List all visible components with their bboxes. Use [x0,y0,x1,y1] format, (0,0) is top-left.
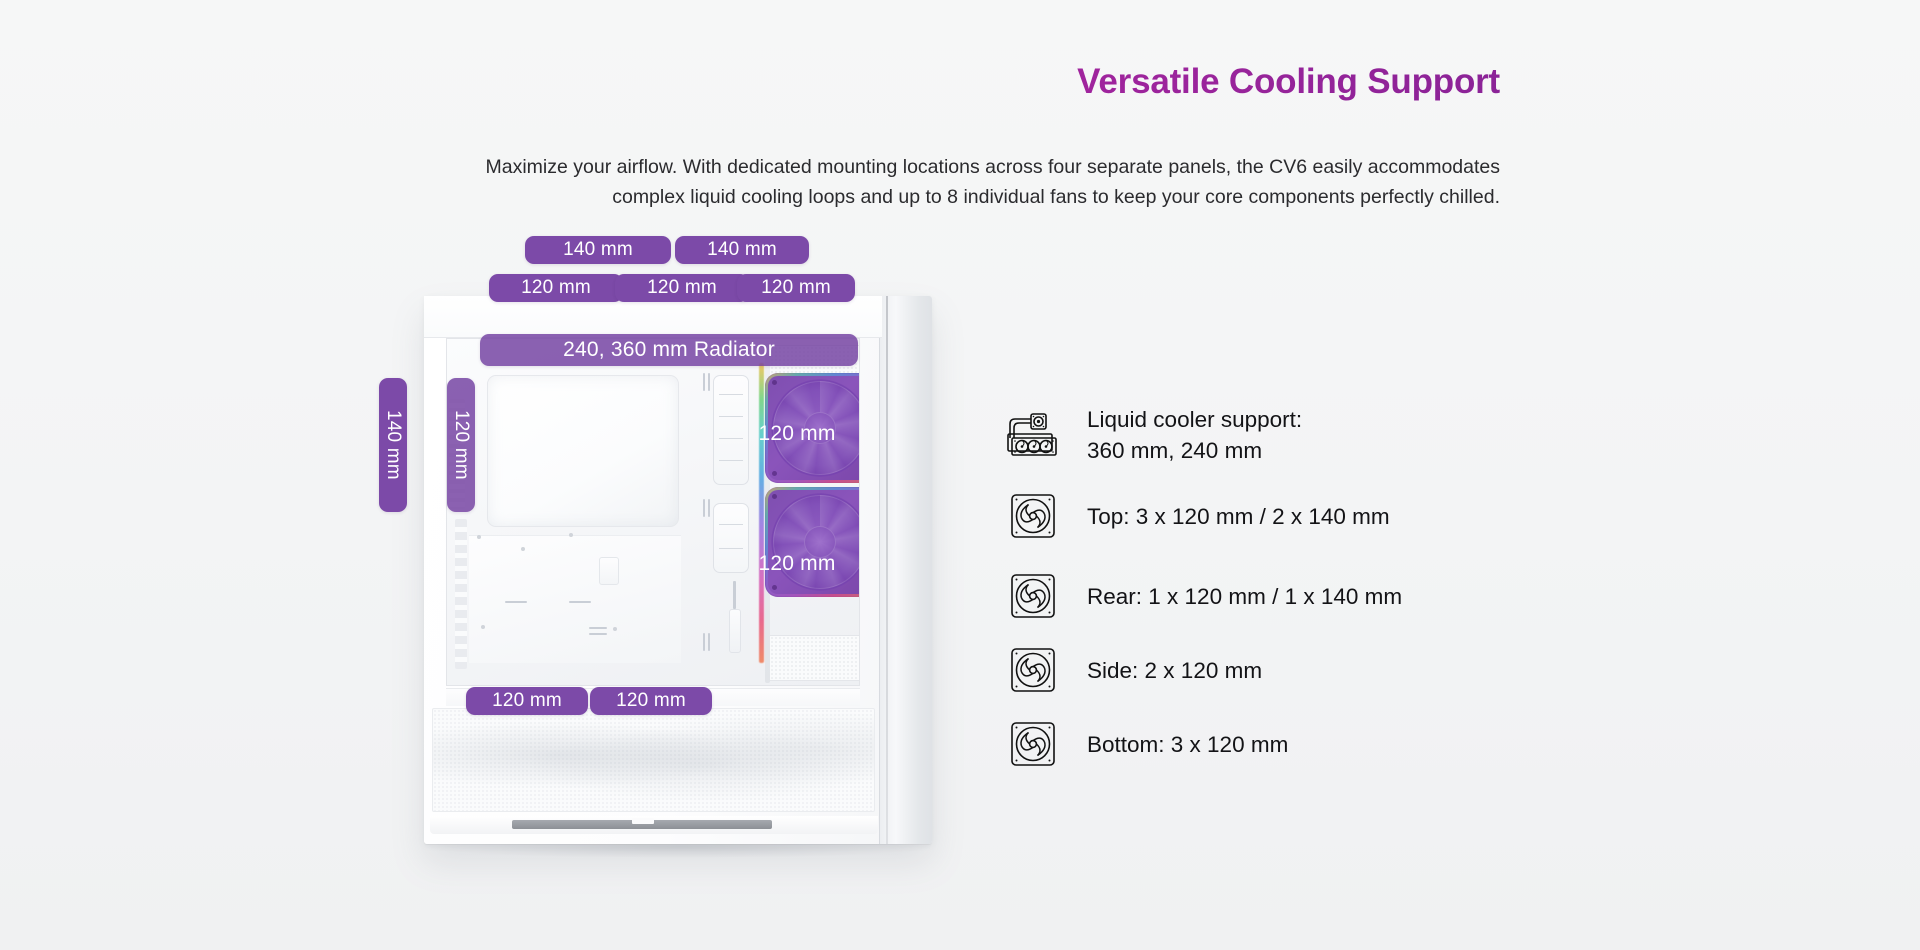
tray-screw [521,547,525,551]
badge-side-fan-lower: 120 mm [742,550,852,578]
spec-line-1: Top: 3 x 120 mm / 2 x 140 mm [1087,504,1390,529]
fan-icon [1005,568,1061,624]
case-foot-tab [632,818,654,824]
case-top-panel [424,296,882,338]
cable-bracket-column [709,357,753,671]
spec-text-top: Top: 3 x 120 mm / 2 x 140 mm [1087,501,1390,532]
fan-icon [1005,488,1061,544]
side-fan-lower [765,487,860,597]
motherboard-tray [487,375,679,527]
tray-screw [613,627,617,631]
tray-screw [477,535,481,539]
badge-top-120-left: 120 mm [489,274,623,302]
motherboard-tray-lower [469,535,681,663]
badge-top-140-left: 140 mm [525,236,671,264]
fan-icon [1005,716,1061,772]
badge-left-inner-120: 120 mm [447,378,475,512]
cooling-support-panel: Versatile Cooling Support Maximize your … [0,0,1920,950]
tray-screw [569,533,573,537]
spec-row-liquid-cooler: Liquid cooler support: 360 mm, 240 mm [1005,404,1545,466]
spec-text-liquid-cooler: Liquid cooler support: 360 mm, 240 mm [1087,404,1302,466]
spec-text-bottom: Bottom: 3 x 120 mm [1087,729,1288,760]
badge-left-outer-140: 140 mm [379,378,407,512]
spec-row-top: Top: 3 x 120 mm / 2 x 140 mm [1005,488,1545,544]
spec-line-1: Bottom: 3 x 120 mm [1087,732,1288,757]
spec-line-2: 360 mm, 240 mm [1087,435,1302,466]
pc-case-illustration [424,296,932,844]
badge-radiator: 240, 360 mm Radiator [480,334,858,366]
badge-side-fan-upper: 120 mm [742,420,852,448]
spec-row-rear: Rear: 1 x 120 mm / 1 x 140 mm [1005,568,1545,624]
case-side-panel [879,296,932,844]
page-title: Versatile Cooling Support [430,62,1500,102]
tray-slot [589,633,607,635]
badge-top-140-right: 140 mm [675,236,809,264]
rgb-light-strip [759,363,764,663]
cooling-spec-list: Liquid cooler support: 360 mm, 240 mm [1005,404,1545,772]
tray-cutout [599,557,619,585]
badge-top-120-right: 120 mm [737,274,855,302]
badge-bottom-120-right: 120 mm [590,687,712,715]
cable-tie-point [729,609,741,653]
badge-top-120-mid: 120 mm [615,274,749,302]
tray-screw [481,625,485,629]
case-interior [446,338,860,686]
tray-slot [505,601,527,603]
spec-row-side: Side: 2 x 120 mm [1005,642,1545,698]
page-description: Maximize your airflow. With dedicated mo… [430,152,1500,212]
spec-line-1: Side: 2 x 120 mm [1087,658,1262,683]
spec-line-1: Rear: 1 x 120 mm / 1 x 140 mm [1087,584,1402,609]
tray-slot [589,627,607,629]
fan-icon [1005,642,1061,698]
spec-row-bottom: Bottom: 3 x 120 mm [1005,716,1545,772]
badge-bottom-120-left: 120 mm [466,687,588,715]
pci-slot-rail [455,519,467,669]
fan-mount-mesh-bottom [765,635,860,681]
spec-text-rear: Rear: 1 x 120 mm / 1 x 140 mm [1087,581,1402,612]
aio-liquid-cooler-icon [1005,407,1061,463]
spec-line-1: Liquid cooler support: [1087,407,1302,432]
spec-text-side: Side: 2 x 120 mm [1087,655,1262,686]
bottom-mesh-panel [432,708,875,812]
tray-slot [569,601,591,603]
